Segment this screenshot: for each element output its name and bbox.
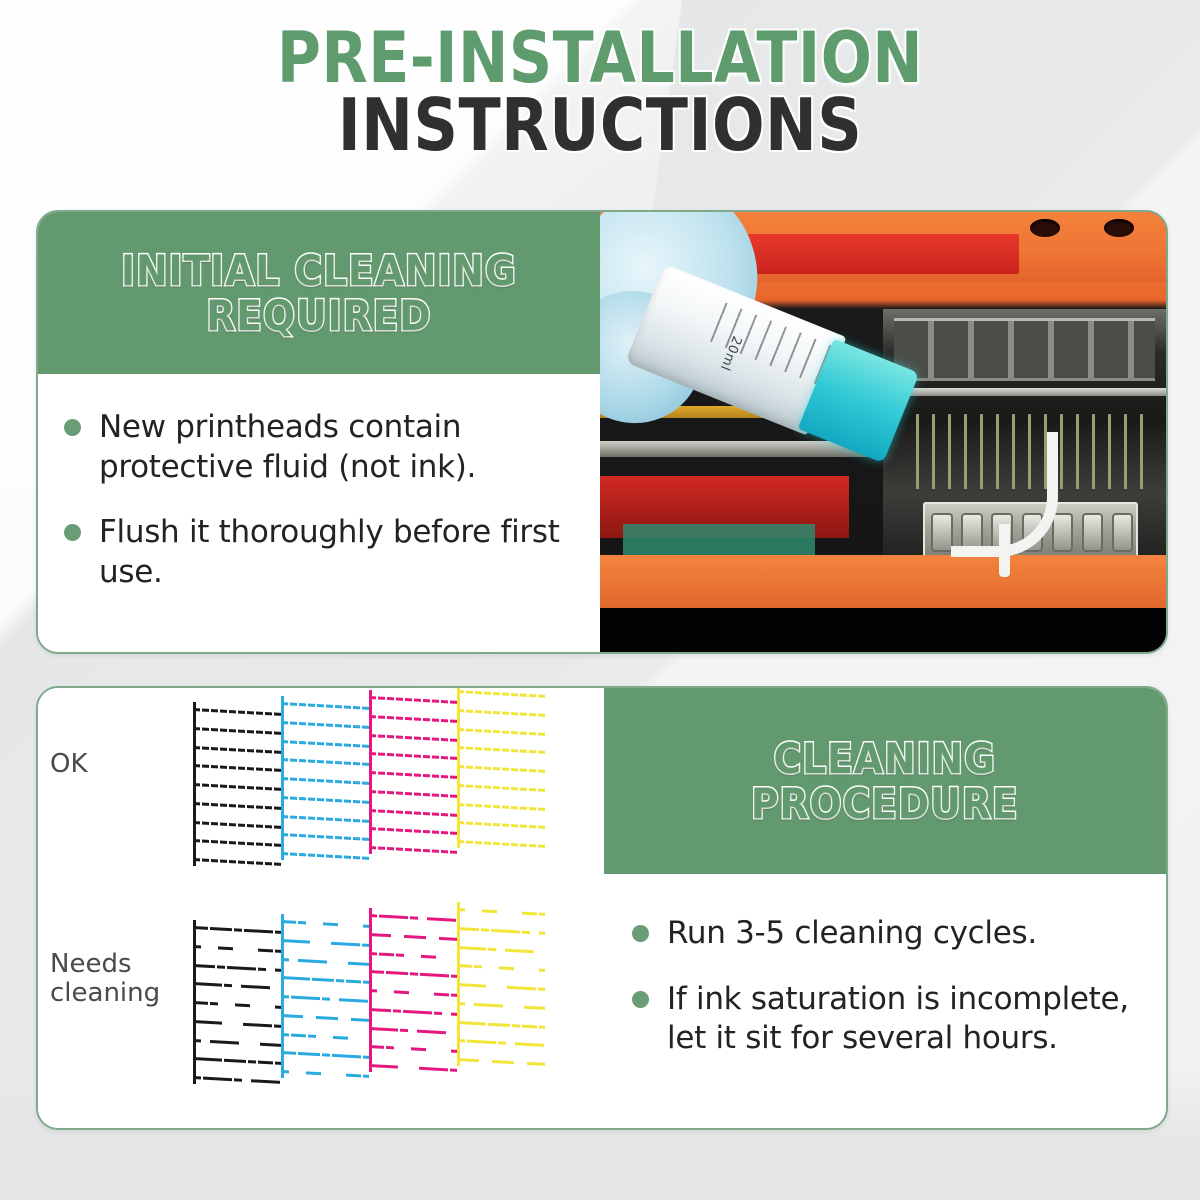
nozzle-line: [457, 840, 545, 848]
nozzle-line: [457, 746, 545, 754]
nozzle-line: [193, 1020, 281, 1028]
nozzle-channel-magenta: [369, 908, 457, 1072]
nozzle-line: [369, 933, 457, 941]
nozzle-line: [281, 1033, 369, 1041]
nozzle-line: [281, 721, 369, 729]
nozzle-line-group: [193, 702, 281, 866]
nozzle-line: [193, 1057, 281, 1065]
card-cleaning-procedure: OK Needs cleaning CLEANING PROCEDURE: [36, 686, 1168, 1130]
bullet-dot-icon: [632, 925, 649, 942]
nozzle-line: [457, 908, 545, 916]
card-initial-cleaning-text-column: INITIAL CLEANING REQUIRED New printheads…: [38, 212, 600, 652]
nozzle-line: [457, 1058, 545, 1066]
nozzle-line-group: [281, 914, 369, 1078]
photo-letterbox-bar: [600, 608, 1166, 652]
infographic-page: PRE-INSTALLATION INSTRUCTIONS INITIAL CL…: [0, 0, 1200, 1200]
nozzle-line: [193, 1076, 281, 1084]
pattern-label-needs-line-1: Needs: [50, 949, 132, 979]
nozzle-line-group: [457, 902, 545, 1066]
page-title-line-2: INSTRUCTIONS: [84, 92, 1116, 158]
photo-cap: [1112, 513, 1134, 551]
header-title-line-2: REQUIRED: [206, 291, 431, 340]
printhead-flush-photo: 20ml: [600, 212, 1166, 652]
nozzle-line: [369, 696, 457, 704]
nozzle-line: [369, 734, 457, 742]
nozzle-line: [193, 708, 281, 716]
nozzle-line: [369, 809, 457, 817]
nozzle-line: [369, 952, 457, 960]
nozzle-line: [369, 1027, 457, 1035]
photo-cap: [931, 513, 953, 551]
header-title-line-1: INITIAL CLEANING: [121, 246, 517, 295]
nozzle-line: [193, 982, 281, 990]
pattern-label-needs-cleaning: Needs cleaning: [50, 950, 160, 1008]
nozzle-line: [193, 839, 281, 847]
nozzle-line: [369, 715, 457, 723]
bullet-dot-icon: [64, 524, 81, 541]
nozzle-line: [369, 1064, 457, 1072]
header-title-line-1: CLEANING: [774, 734, 996, 783]
pattern-label-needs-line-2: cleaning: [50, 978, 160, 1008]
photo-screw-hole-icon: [1104, 219, 1134, 237]
nozzle-line: [281, 976, 369, 984]
nozzle-line: [281, 995, 369, 1003]
nozzle-line: [193, 746, 281, 754]
photo-flush-tube-tip: [999, 524, 1010, 577]
nozzle-line: [369, 790, 457, 798]
nozzle-line: [193, 1001, 281, 1009]
nozzle-line: [369, 752, 457, 760]
bullet-text: New printheads contain protective fluid …: [99, 408, 574, 487]
card-initial-cleaning-header: INITIAL CLEANING REQUIRED: [38, 212, 600, 374]
header-title-line-2: PROCEDURE: [751, 779, 1019, 828]
nozzle-line: [457, 1002, 545, 1010]
nozzle-line: [193, 945, 281, 953]
nozzle-line: [457, 821, 545, 829]
nozzle-line: [457, 728, 545, 736]
nozzle-line: [457, 803, 545, 811]
nozzle-line: [457, 690, 545, 698]
nozzle-line: [281, 1051, 369, 1059]
nozzle-line: [281, 939, 369, 947]
nozzle-line: [369, 1008, 457, 1016]
nozzle-pattern-needs-cleaning: [193, 920, 545, 1084]
nozzle-line: [281, 1070, 369, 1078]
nozzle-line: [369, 846, 457, 854]
nozzle-line: [369, 1045, 457, 1053]
page-title: PRE-INSTALLATION INSTRUCTIONS: [0, 26, 1200, 159]
list-item: Run 3-5 cleaning cycles.: [632, 914, 1138, 954]
card-cleaning-procedure-header: CLEANING PROCEDURE: [604, 688, 1166, 874]
nozzle-line-group: [193, 920, 281, 1084]
photo-metal-rail: [883, 388, 1166, 396]
nozzle-line: [193, 764, 281, 772]
nozzle-channel-cyan: [281, 914, 369, 1078]
nozzle-pattern-ok: [193, 702, 545, 866]
nozzle-line: [193, 727, 281, 735]
nozzle-line: [457, 927, 545, 935]
nozzle-line: [369, 771, 457, 779]
bullet-text: If ink saturation is incomplete, let it …: [667, 980, 1138, 1059]
card-cleaning-procedure-bullet-list: Run 3-5 cleaning cycles. If ink saturati…: [604, 874, 1166, 1128]
nozzle-line: [193, 821, 281, 829]
nozzle-line: [193, 802, 281, 810]
bullet-text: Flush it thoroughly before first use.: [99, 513, 574, 592]
nozzle-line: [193, 964, 281, 972]
nozzle-line-group: [281, 696, 369, 860]
nozzle-line: [457, 946, 545, 954]
nozzle-line: [457, 964, 545, 972]
pattern-label-ok: OK: [50, 750, 88, 779]
nozzle-line: [193, 783, 281, 791]
photo-printer-bottom-panel: [600, 555, 1166, 608]
nozzle-line: [281, 758, 369, 766]
nozzle-line: [281, 815, 369, 823]
photo-cap: [1082, 513, 1104, 551]
nozzle-line: [369, 914, 457, 922]
page-title-line-1: PRE-INSTALLATION: [84, 26, 1116, 90]
card-initial-cleaning-bullet-list: New printheads contain protective fluid …: [38, 374, 600, 652]
nozzle-line: [369, 827, 457, 835]
nozzle-line: [193, 858, 281, 866]
list-item: If ink saturation is incomplete, let it …: [632, 980, 1138, 1059]
photo-cap: [1052, 513, 1074, 551]
nozzle-line: [457, 1039, 545, 1047]
nozzle-channel-yellow: [457, 686, 545, 848]
nozzle-line: [281, 796, 369, 804]
photo-screw-hole-icon: [1030, 219, 1060, 237]
nozzle-line: [281, 777, 369, 785]
nozzle-line: [369, 970, 457, 978]
list-item: Flush it thoroughly before first use.: [64, 513, 574, 592]
nozzle-line: [457, 709, 545, 717]
nozzle-line-group: [369, 690, 457, 854]
nozzle-channel-yellow: [457, 902, 545, 1066]
nozzle-channel-black: [193, 920, 281, 1084]
nozzle-line: [457, 983, 545, 991]
nozzle-line: [281, 702, 369, 710]
nozzle-line: [281, 852, 369, 860]
nozzle-line: [281, 920, 369, 928]
nozzle-line: [457, 784, 545, 792]
nozzle-line: [281, 958, 369, 966]
nozzle-line: [281, 740, 369, 748]
nozzle-line-group: [369, 908, 457, 1072]
bullet-dot-icon: [64, 419, 81, 436]
nozzle-channel-cyan: [281, 696, 369, 860]
card-initial-cleaning: INITIAL CLEANING REQUIRED New printheads…: [36, 210, 1168, 654]
nozzle-line: [457, 1021, 545, 1029]
bullet-text: Run 3-5 cleaning cycles.: [667, 914, 1037, 954]
pattern-label-ok-text: OK: [50, 749, 88, 779]
nozzle-line: [281, 833, 369, 841]
nozzle-channel-magenta: [369, 690, 457, 854]
card-cleaning-procedure-header-title: CLEANING PROCEDURE: [751, 736, 1019, 827]
nozzle-line: [193, 1039, 281, 1047]
nozzle-line-group: [457, 686, 545, 848]
nozzle-line: [281, 1014, 369, 1022]
list-item: New printheads contain protective fluid …: [64, 408, 574, 487]
nozzle-line: [457, 765, 545, 773]
nozzle-line: [193, 926, 281, 934]
nozzle-line: [369, 989, 457, 997]
bullet-dot-icon: [632, 991, 649, 1008]
card-cleaning-procedure-text-column: CLEANING PROCEDURE Run 3-5 cleaning cycl…: [604, 688, 1166, 1128]
card-initial-cleaning-header-title: INITIAL CLEANING REQUIRED: [121, 248, 517, 339]
nozzle-check-diagram: OK Needs cleaning: [38, 688, 604, 1128]
nozzle-channel-black: [193, 702, 281, 866]
photo-carriage-rail: [894, 318, 1154, 381]
